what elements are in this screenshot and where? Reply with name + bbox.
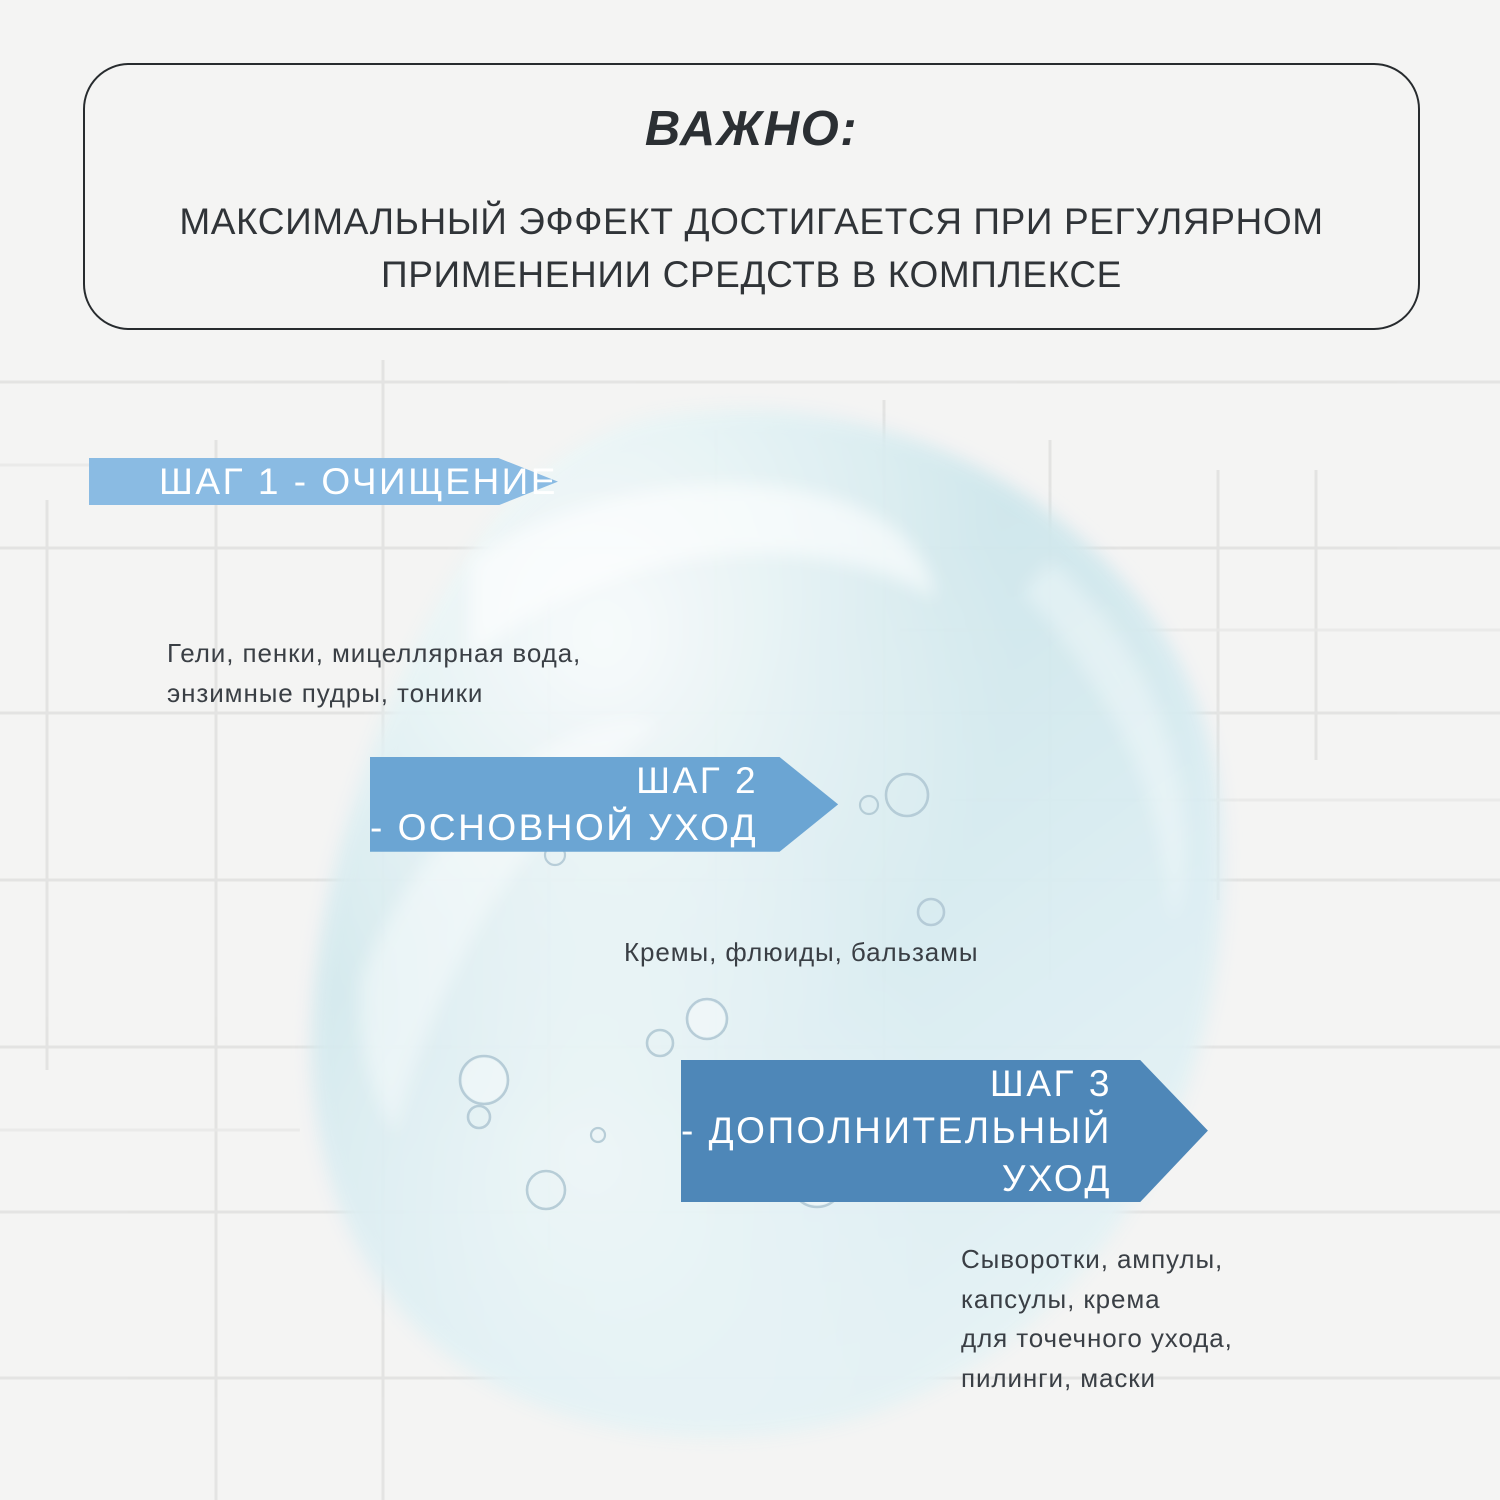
step-2-label: ШАГ 2 - ОСНОВНОЙ УХОД xyxy=(370,757,838,852)
step-1-label: ШАГ 1 - ОЧИЩЕНИЕ xyxy=(89,458,558,505)
step-3-arrow: ШАГ 3 - ДОПОЛНИТЕЛЬНЫЙ УХОД xyxy=(681,1060,1208,1202)
step-2-arrow: ШАГ 2 - ОСНОВНОЙ УХОД xyxy=(370,757,838,852)
step-1-arrow-banner[interactable]: ШАГ 1 - ОЧИЩЕНИЕ xyxy=(89,458,798,610)
step-3-label: ШАГ 3 - ДОПОЛНИТЕЛЬНЫЙ УХОД xyxy=(681,1060,1208,1202)
infographic-canvas: ВАЖНО: МАКСИМАЛЬНЫЙ ЭФФЕКТ ДОСТИГАЕТСЯ П… xyxy=(0,0,1500,1500)
step-3-caption: Сыворотки, ампулы, капсулы, крема для то… xyxy=(961,1240,1233,1398)
step-2-arrow-banner[interactable]: ШАГ 2 - ОСНОВНОЙ УХОД xyxy=(370,757,1089,907)
step-1-caption: Гели, пенки, мицеллярная вода, энзимные … xyxy=(167,634,581,713)
important-callout-box: ВАЖНО: МАКСИМАЛЬНЫЙ ЭФФЕКТ ДОСТИГАЕТСЯ П… xyxy=(83,63,1420,330)
step-1-arrow: ШАГ 1 - ОЧИЩЕНИЕ xyxy=(89,458,558,505)
callout-subtitle: МАКСИМАЛЬНЫЙ ЭФФЕКТ ДОСТИГАЕТСЯ ПРИ РЕГУ… xyxy=(132,196,1372,301)
callout-title: ВАЖНО: xyxy=(645,105,858,154)
step-2-caption: Кремы, флюиды, бальзамы xyxy=(624,933,979,973)
step-3-arrow-banner[interactable]: ШАГ 3 - ДОПОЛНИТЕЛЬНЫЙ УХОД xyxy=(681,1060,1420,1211)
